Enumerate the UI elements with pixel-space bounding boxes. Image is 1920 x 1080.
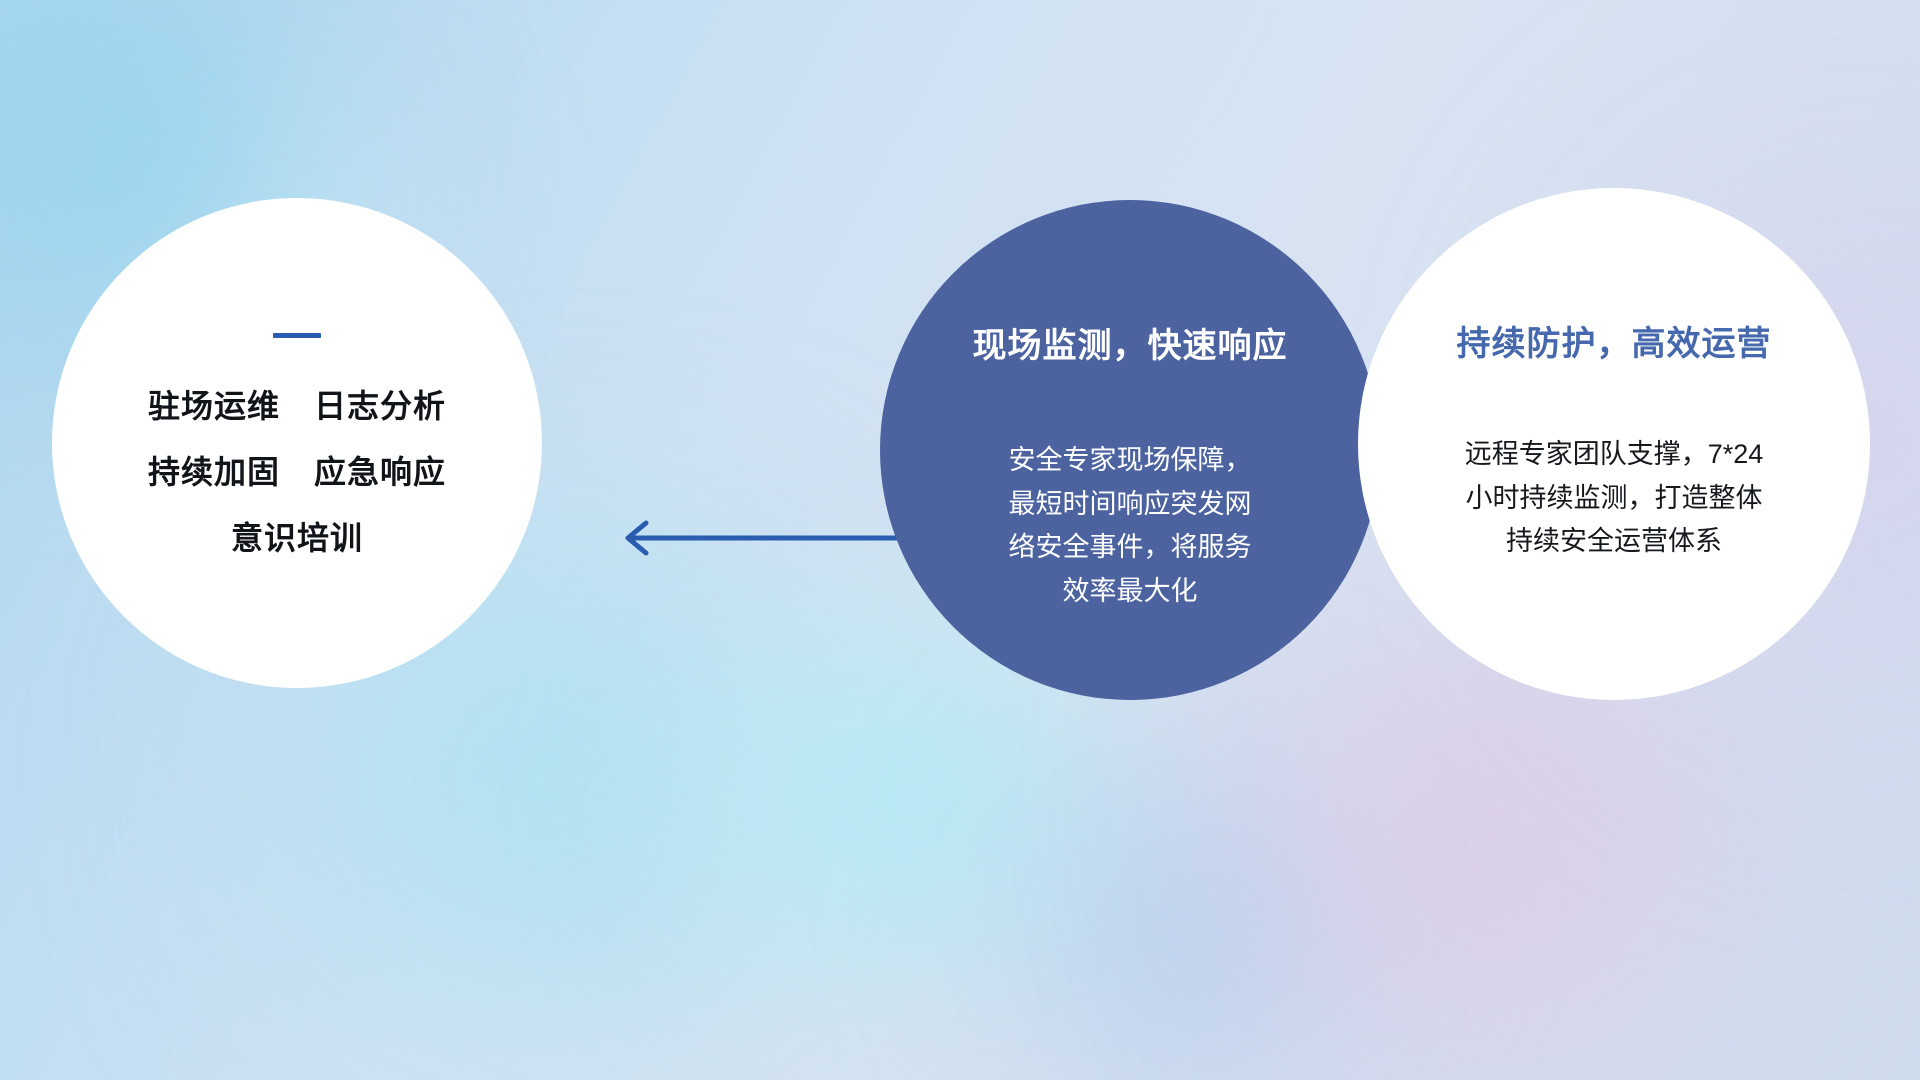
- body-line: 持续安全运营体系: [1414, 520, 1814, 564]
- body-line: 络安全事件，将服务: [970, 526, 1290, 570]
- continuous-protection-body: 远程专家团队支撑，7*24 小时持续监测，打造整体 持续安全运营体系: [1414, 433, 1814, 564]
- service-row-2: 持续加固 应急响应: [148, 456, 446, 488]
- service-label-continuous-hardening: 持续加固: [148, 456, 280, 488]
- service-row-3: 意识培训: [231, 522, 363, 554]
- continuous-protection-circle[interactable]: 持续防护，高效运营 远程专家团队支撑，7*24 小时持续监测，打造整体 持续安全…: [1358, 188, 1870, 700]
- body-line: 最短时间响应突发网: [970, 483, 1290, 527]
- body-line: 远程专家团队支撑，7*24: [1414, 433, 1814, 477]
- body-line: 小时持续监测，打造整体: [1414, 477, 1814, 521]
- service-label-resident-ops: 驻场运维: [148, 390, 280, 422]
- continuous-protection-title: 持续防护，高效运营: [1457, 316, 1772, 365]
- divider-dash: [273, 333, 321, 338]
- body-line: 安全专家现场保障，: [970, 439, 1290, 483]
- onsite-monitoring-body: 安全专家现场保障， 最短时间响应突发网 络安全事件，将服务 效率最大化: [970, 439, 1290, 614]
- onsite-monitoring-title: 现场监测，快速响应: [973, 318, 1288, 367]
- service-label-awareness-training: 意识培训: [231, 522, 363, 554]
- arrow-connector: [610, 515, 910, 561]
- slide-canvas: 驻场运维 日志分析 持续加固 应急响应 意识培训 现场监测，快速响应 安全专家现…: [0, 0, 1920, 1080]
- left-arrow-icon: [610, 515, 910, 561]
- onsite-monitoring-circle[interactable]: 现场监测，快速响应 安全专家现场保障， 最短时间响应突发网 络安全事件，将服务 …: [880, 200, 1380, 700]
- service-label-emergency-response: 应急响应: [314, 456, 446, 488]
- service-row-1: 驻场运维 日志分析: [148, 390, 446, 422]
- services-circle[interactable]: 驻场运维 日志分析 持续加固 应急响应 意识培训: [52, 198, 542, 688]
- body-line: 效率最大化: [970, 570, 1290, 614]
- service-label-log-analysis: 日志分析: [314, 390, 446, 422]
